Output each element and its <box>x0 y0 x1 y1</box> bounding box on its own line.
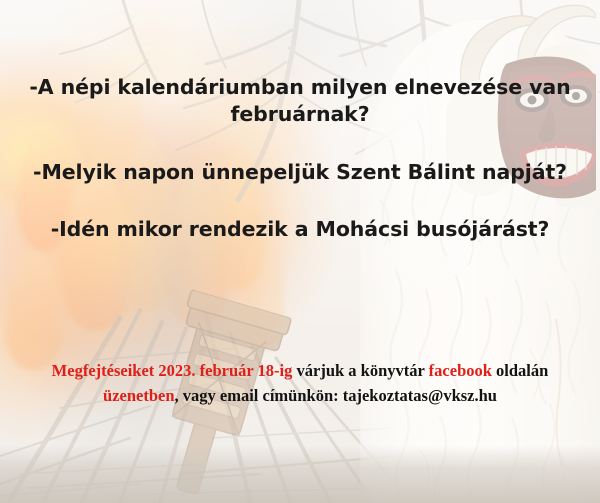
call-to-action: Megfejtéseiket 2023. február 18-ig várju… <box>0 358 600 408</box>
question-1: -A népi kalendáriumban milyen elnevezése… <box>22 72 578 129</box>
poster-content: -A népi kalendáriumban milyen elnevezése… <box>0 0 600 503</box>
cta-line-1-plain-1: várjuk a könyvtár <box>292 361 428 380</box>
quiz-poster: -A népi kalendáriumban milyen elnevezése… <box>0 0 600 503</box>
cta-line-1: Megfejtéseiket 2023. február 18-ig várju… <box>0 358 600 383</box>
question-3: -Idén mikor rendezik a Mohácsi busójárás… <box>22 186 578 243</box>
cta-facebook-highlight[interactable]: facebook <box>429 361 492 380</box>
cta-line-1-plain-2: oldalán <box>492 361 548 380</box>
cta-email-text: , vagy email címünkön: tajekoztatas@vksz… <box>175 386 497 405</box>
question-list: -A népi kalendáriumban milyen elnevezése… <box>0 72 600 243</box>
cta-line-2: üzenetben, vagy email címünkön: tajekozt… <box>0 383 600 408</box>
cta-deadline-highlight: Megfejtéseiket 2023. február 18-ig <box>52 361 293 380</box>
question-2: -Melyik napon ünnepeljük Szent Bálint na… <box>22 129 578 186</box>
cta-message-highlight: üzenetben <box>103 386 175 405</box>
